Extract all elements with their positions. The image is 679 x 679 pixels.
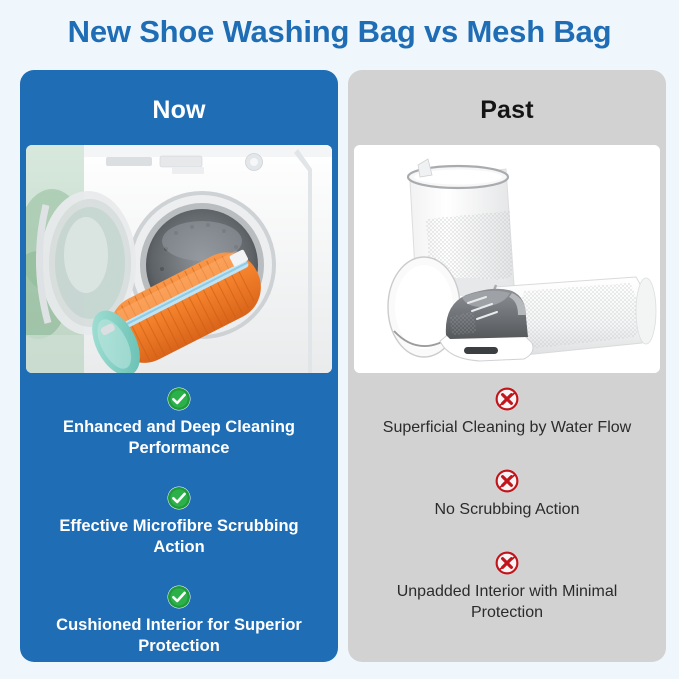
feature-text: Unpadded Interior with Minimal Protectio… (366, 581, 648, 623)
page-title: New Shoe Washing Bag vs Mesh Bag (0, 14, 679, 50)
panel-now-image-card (26, 145, 332, 373)
feature-text: Effective Microfibre Scrubbing Action (38, 516, 320, 558)
feature-text: No Scrubbing Action (435, 499, 580, 520)
feature-item: Superficial Cleaning by Water Flow (348, 386, 666, 438)
feature-item: Effective Microfibre Scrubbing Action (20, 485, 338, 558)
red-prohibited-x-icon (494, 468, 520, 494)
feature-item: Unpadded Interior with Minimal Protectio… (348, 550, 666, 623)
feature-item: Enhanced and Deep Cleaning Performance (20, 386, 338, 459)
panel-past-image-card (354, 145, 660, 373)
feature-text: Superficial Cleaning by Water Flow (383, 417, 631, 438)
panel-now: Now (20, 70, 338, 662)
green-check-icon (166, 386, 192, 412)
feature-text: Cushioned Interior for Superior Protecti… (38, 615, 320, 657)
feature-item: Cushioned Interior for Superior Protecti… (20, 584, 338, 657)
red-prohibited-x-icon (494, 550, 520, 576)
green-check-icon (166, 485, 192, 511)
panel-now-header: Now (20, 70, 338, 125)
green-check-icon (166, 584, 192, 610)
red-prohibited-x-icon (494, 386, 520, 412)
feature-item: No Scrubbing Action (348, 468, 666, 520)
panel-past: Past (348, 70, 666, 662)
panel-now-feature-list: Enhanced and Deep Cleaning Performance E… (20, 386, 338, 662)
washing-machine-with-orange-bag-photo (26, 145, 332, 373)
white-mesh-bags-with-sneaker-photo (354, 145, 660, 373)
panel-past-header: Past (348, 70, 666, 125)
feature-text: Enhanced and Deep Cleaning Performance (38, 417, 320, 459)
panel-past-feature-list: Superficial Cleaning by Water Flow No Sc… (348, 386, 666, 653)
